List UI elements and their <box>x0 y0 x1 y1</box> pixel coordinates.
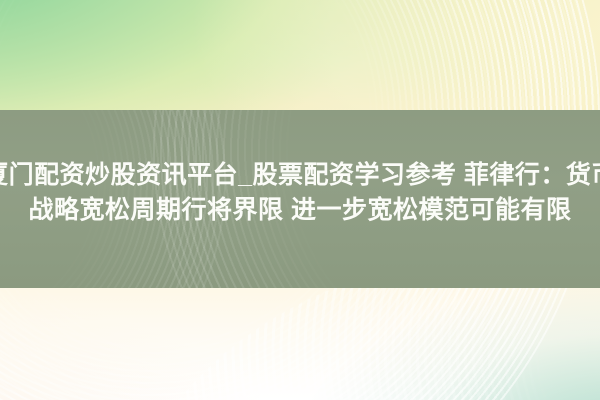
banner-headline: 厦门配资炒股资讯平台_股票配资学习参考 菲律行：货币战略宽松周期行将界限 进一步… <box>0 158 600 228</box>
banner-image: 厦门配资炒股资讯平台_股票配资学习参考 菲律行：货币战略宽松周期行将界限 进一步… <box>0 0 600 400</box>
decorative-wave-pattern-bottom-right-inner <box>200 300 600 400</box>
headline-banner-band: 厦门配资炒股资讯平台_股票配资学习参考 菲律行：货币战略宽松周期行将界限 进一步… <box>0 110 600 288</box>
